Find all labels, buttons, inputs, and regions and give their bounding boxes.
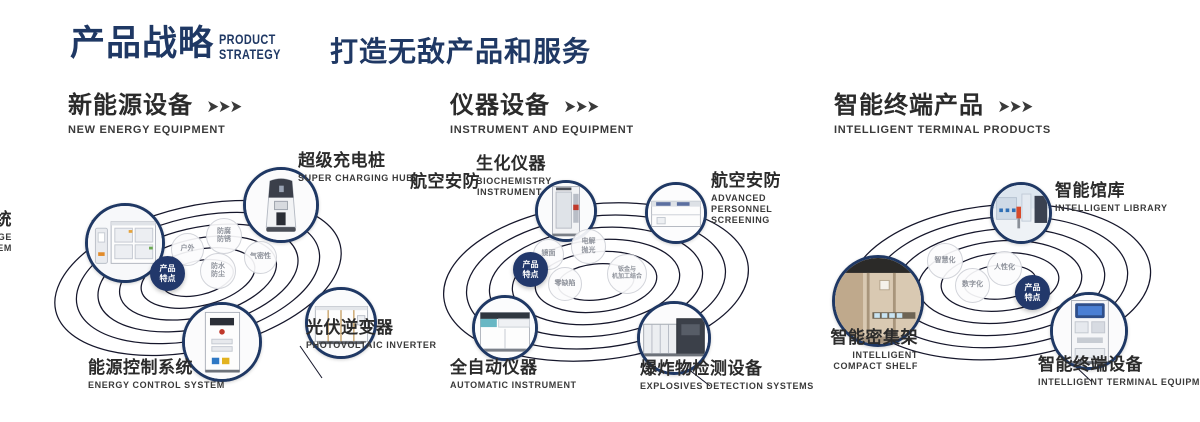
feature-bubble-core: 产品 特点 bbox=[1015, 275, 1050, 310]
core-label-line1: 产品 bbox=[523, 260, 539, 270]
header: 产品战略 PRODUCT STRATEGY 打造无敌产品和服务 bbox=[0, 0, 1200, 88]
core-label-line2: 特点 bbox=[1025, 293, 1041, 303]
cluster-intelligent-terminal: 智慧化 数字化 人性化 产品 特点 智能馆库 INTELLIGENT LIBRA… bbox=[800, 150, 1200, 422]
label-cn: 智能馆库 bbox=[1055, 181, 1168, 201]
feature-bubble-core: 产品 特点 bbox=[513, 252, 548, 287]
label-cn: 航空安防 bbox=[711, 171, 803, 191]
section-title-cn: 新能源设备 bbox=[68, 94, 193, 118]
feature-label: 智慧化 bbox=[935, 257, 956, 266]
label-en: INTELLIGENT COMPACT SHELF bbox=[806, 350, 918, 372]
feature-bubble: 零缺陷 bbox=[548, 267, 582, 301]
label-en: ENERGY CONTROL SYSTEM bbox=[88, 380, 225, 391]
feature-bubble: 人性化 bbox=[987, 251, 1022, 286]
section-title-intelligent-terminal: 智能终端产品 ➤➤➤ INTELLIGENT TERMINAL PRODUCTS bbox=[834, 94, 1051, 136]
section-title-en: NEW ENERGY EQUIPMENT bbox=[68, 125, 241, 136]
label-intelligent-terminal-equipment: 智能终端设备 INTELLIGENT TERMINAL EQUIPMENT bbox=[1038, 355, 1200, 388]
label-en: INTELLIGENT LIBRARY bbox=[1055, 203, 1168, 214]
section-title-en: INTELLIGENT TERMINAL PRODUCTS bbox=[834, 125, 1051, 136]
feature-label: 数字化 bbox=[962, 281, 983, 290]
page-title-en-line1: PRODUCT bbox=[219, 32, 281, 47]
photo-automatic-instrument bbox=[475, 298, 535, 358]
section-title-new-energy: 新能源设备 ➤➤➤ NEW ENERGY EQUIPMENT bbox=[68, 94, 241, 136]
node-advanced-personnel-screening[interactable] bbox=[645, 182, 707, 244]
chevron-right-icon: ➤➤➤ bbox=[997, 96, 1032, 117]
chevron-right-icon: ➤➤➤ bbox=[206, 96, 241, 117]
feature-bubble: 钣金与 机加工结合 bbox=[607, 254, 647, 294]
label-en: SUPER CHARGING HUB bbox=[298, 173, 413, 184]
cluster-instrument: 镜面 电解 抛光 零缺陷 钣金与 机加工结合 产品 特点 航空安防 生化仪器 B… bbox=[400, 150, 800, 422]
feature-label: 电解 抛光 bbox=[582, 238, 596, 255]
feature-label: 零缺陷 bbox=[555, 280, 576, 289]
label-cn: 能源控制系统 bbox=[88, 358, 225, 378]
label-en: BIOCHEMISTRY INSTRUMENT bbox=[476, 176, 542, 198]
label-cn: 航空安防 bbox=[410, 172, 480, 192]
feature-bubble-core: 产品 特点 bbox=[150, 256, 185, 291]
label-cn: 储能系统 bbox=[0, 210, 12, 230]
label-cn: 智能密集架 bbox=[806, 328, 918, 348]
page-subtitle: 打造无敌产品和服务 bbox=[330, 38, 591, 66]
label-cn: 爆炸物检测设备 bbox=[640, 359, 814, 379]
core-label-line1: 产品 bbox=[160, 264, 176, 274]
label-cn: 超级充电桩 bbox=[298, 151, 413, 171]
core-label-line2: 特点 bbox=[523, 270, 539, 280]
photo-advanced-personnel-screening bbox=[648, 185, 704, 241]
label-intelligent-compact-shelf: 智能密集架 INTELLIGENT COMPACT SHELF bbox=[806, 328, 918, 372]
label-en: AUTOMATIC INSTRUMENT bbox=[450, 380, 577, 391]
label-en: ADVANCED PERSONNEL SCREENING bbox=[711, 193, 803, 226]
feature-label: 防水 防尘 bbox=[211, 263, 225, 280]
page-title-cn: 产品战略 bbox=[70, 26, 214, 61]
label-energy-control-system: 能源控制系统 ENERGY CONTROL SYSTEM bbox=[88, 358, 225, 391]
feature-bubble: 智慧化 bbox=[927, 243, 963, 279]
label-energy-storage-system: 储能系统 ENERGY STORAGE SYSTEM bbox=[0, 210, 12, 254]
label-explosives-detection-systems: 爆炸物检测设备 EXPLOSIVES DETECTION SYSTEMS bbox=[640, 359, 814, 392]
label-en: ENERGY STORAGE SYSTEM bbox=[0, 232, 12, 254]
label-super-charging-hub: 超级充电桩 SUPER CHARGING HUB bbox=[298, 151, 413, 184]
node-intelligent-library[interactable] bbox=[990, 182, 1052, 244]
label-biochemistry-instrument: 生化仪器 BIOCHEMISTRY INSTRUMENT bbox=[476, 154, 542, 198]
feature-label: 人性化 bbox=[994, 264, 1015, 273]
feature-bubble: 电解 抛光 bbox=[571, 229, 606, 264]
node-automatic-instrument[interactable] bbox=[472, 295, 538, 361]
feature-bubble: 数字化 bbox=[955, 268, 990, 303]
label-cn: 智能终端设备 bbox=[1038, 355, 1200, 375]
label-cn: 全自动仪器 bbox=[450, 358, 577, 378]
feature-bubble: 防腐 防锈 bbox=[206, 218, 242, 254]
section-title-instrument: 仪器设备 ➤➤➤ INSTRUMENT AND EQUIPMENT bbox=[450, 94, 634, 136]
cluster-new-energy: 户外 防腐 防锈 防水 防尘 气密性 产品 特点 储能系统 ENERGY STO… bbox=[0, 150, 400, 422]
page-title-en-line2: STRATEGY bbox=[219, 47, 281, 62]
feature-label: 气密性 bbox=[250, 253, 271, 262]
feature-label: 钣金与 机加工结合 bbox=[612, 267, 642, 282]
section-title-en: INSTRUMENT AND EQUIPMENT bbox=[450, 125, 634, 136]
label-en: EXPLOSIVES DETECTION SYSTEMS bbox=[640, 381, 814, 392]
page-title-en: PRODUCT STRATEGY bbox=[219, 32, 281, 62]
label-advanced-personnel-screening: 航空安防 ADVANCED PERSONNEL SCREENING bbox=[711, 171, 803, 226]
section-title-cn: 仪器设备 bbox=[450, 94, 550, 118]
section-title-cn: 智能终端产品 bbox=[834, 94, 984, 118]
product-strategy-infographic: 产品战略 PRODUCT STRATEGY 打造无敌产品和服务 新能源设备 ➤➤… bbox=[0, 0, 1200, 422]
feature-label: 户外 bbox=[181, 245, 195, 254]
core-label-line1: 产品 bbox=[1025, 283, 1041, 293]
feature-bubble: 防水 防尘 bbox=[200, 253, 236, 289]
feature-bubble: 气密性 bbox=[244, 241, 277, 274]
chevron-right-icon: ➤➤➤ bbox=[563, 96, 598, 117]
feature-label: 防腐 防锈 bbox=[217, 228, 231, 245]
label-intelligent-library: 智能馆库 INTELLIGENT LIBRARY bbox=[1055, 181, 1168, 214]
label-en: INTELLIGENT TERMINAL EQUIPMENT bbox=[1038, 377, 1200, 388]
label-aviation-security: 航空安防 bbox=[410, 172, 480, 192]
label-automatic-instrument: 全自动仪器 AUTOMATIC INSTRUMENT bbox=[450, 358, 577, 391]
photo-intelligent-library bbox=[993, 185, 1049, 241]
label-cn: 生化仪器 bbox=[476, 154, 542, 174]
core-label-line2: 特点 bbox=[160, 274, 176, 284]
